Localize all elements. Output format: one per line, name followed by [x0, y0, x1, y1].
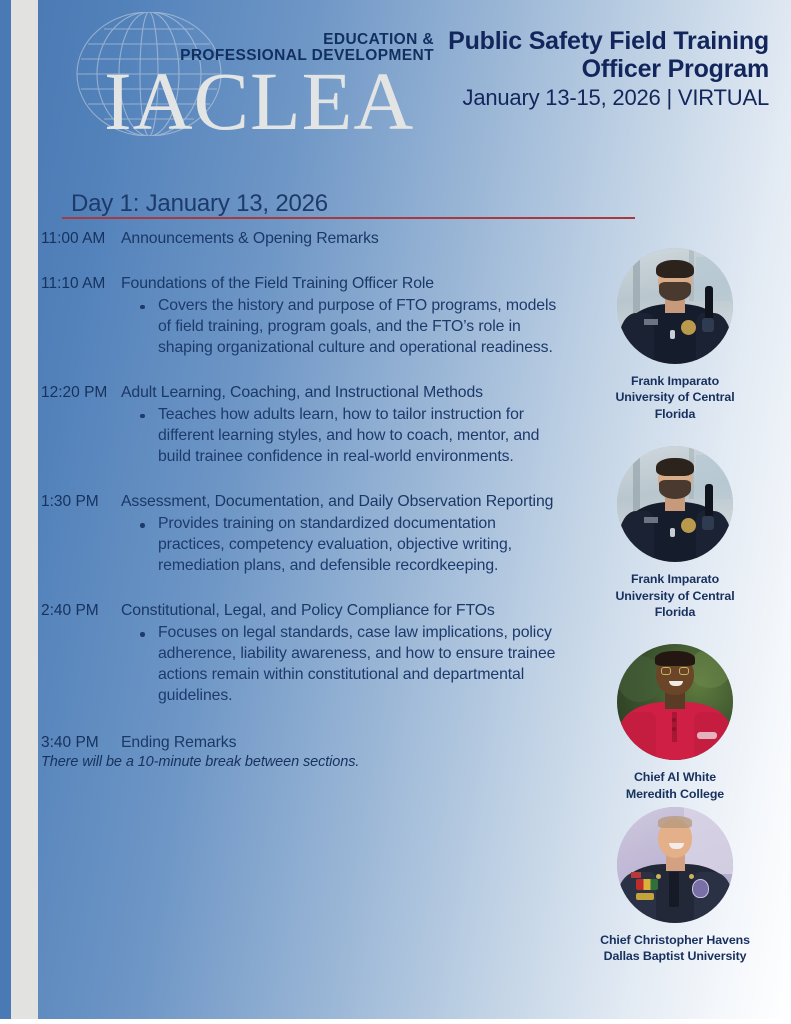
day-heading-rule — [62, 217, 635, 219]
photo-detail-glass — [696, 455, 731, 499]
left-gray-stripe — [11, 0, 38, 1019]
photo-detail-hair — [656, 458, 693, 477]
speaker-caption: Chief Al WhiteMeredith College — [600, 769, 750, 802]
photo-detail-pin — [670, 330, 675, 339]
schedule-slot-header: 3:40 PMEnding Remarks — [41, 733, 561, 754]
break-footnote: There will be a 10-minute break between … — [41, 754, 561, 770]
speaker-caption: Frank ImparatoUniversity of Central Flor… — [600, 373, 750, 422]
photo-detail-badge — [681, 518, 696, 533]
photo-detail-tag — [644, 517, 658, 523]
schedule-list: 11:00 AMAnnouncements & Opening Remarks1… — [41, 229, 561, 770]
agenda-flyer: EDUCATION & PROFESSIONAL DEVELOPMENT IAC… — [0, 0, 791, 1024]
speaker-photo — [617, 807, 733, 923]
header: EDUCATION & PROFESSIONAL DEVELOPMENT IAC… — [38, 0, 791, 145]
photo-detail-radio — [705, 286, 713, 321]
schedule-slot-header: 1:30 PMAssessment, Documentation, and Da… — [41, 492, 561, 513]
bullet-dot-icon — [140, 414, 145, 419]
photo-detail-tie — [669, 872, 679, 907]
event-title-block: Public Safety Field Training Officer Pro… — [429, 27, 769, 112]
photo-detail-leaf2 — [689, 649, 731, 688]
speaker-card: Chief Christopher HavensDallas Baptist U… — [600, 807, 750, 965]
schedule-slot-title: Foundations of the Field Training Office… — [121, 274, 561, 295]
photo-detail-glass — [696, 257, 731, 301]
schedule-slot-header: 2:40 PMConstitutional, Legal, and Policy… — [41, 601, 561, 622]
schedule-slot-title: Ending Remarks — [121, 733, 561, 754]
photo-detail-patch — [702, 516, 714, 530]
schedule-slot: 11:00 AMAnnouncements & Opening Remarks — [41, 229, 561, 250]
schedule-slot-time: 11:00 AM — [41, 229, 121, 249]
speaker-card: Frank ImparatoUniversity of Central Flor… — [600, 248, 750, 422]
speaker-photo — [617, 248, 733, 364]
photo-detail-ribbon2 — [636, 893, 654, 900]
left-blue-stripe — [0, 0, 11, 1019]
schedule-slot: 2:40 PMConstitutional, Legal, and Policy… — [41, 601, 561, 707]
photo-detail-pin — [670, 528, 675, 537]
speaker-name: Frank Imparato — [600, 571, 750, 587]
schedule-bullet: Provides training on standardized docume… — [140, 514, 561, 577]
photo-detail-tag — [644, 319, 658, 325]
bullet-dot-icon — [140, 523, 145, 528]
schedule-slot-time: 12:20 PM — [41, 383, 121, 403]
speaker-caption: Frank ImparatoUniversity of Central Flor… — [600, 571, 750, 620]
event-title-line2: Officer Program — [429, 55, 769, 83]
speaker-affiliation: University of Central Florida — [600, 389, 750, 422]
schedule-slot-bullets: Provides training on standardized docume… — [140, 514, 561, 577]
schedule-slot-title: Constitutional, Legal, and Policy Compli… — [121, 601, 561, 622]
photo-detail-shoulderl — [617, 712, 656, 761]
photo-detail-hair — [655, 651, 694, 666]
schedule-slot-header: 12:20 PMAdult Learning, Coaching, and In… — [41, 383, 561, 404]
photo-detail-star2 — [689, 874, 694, 879]
day-heading: Day 1: January 13, 2026 — [71, 190, 328, 218]
schedule-bullet: Covers the history and purpose of FTO pr… — [140, 296, 561, 359]
schedule-bullet: Focuses on legal standards, case law imp… — [140, 623, 561, 706]
iaclea-logo: EDUCATION & PROFESSIONAL DEVELOPMENT IAC… — [56, 6, 436, 136]
schedule-slot-title: Announcements & Opening Remarks — [121, 229, 561, 250]
speaker-name: Chief Al White — [600, 769, 750, 785]
photo-detail-btn2 — [672, 727, 676, 731]
speaker-name: Frank Imparato — [600, 373, 750, 389]
photo-detail-ribbon — [636, 879, 658, 890]
schedule-slot-bullets: Teaches how adults learn, how to tailor … — [140, 405, 561, 468]
speaker-card: Frank ImparatoUniversity of Central Flor… — [600, 446, 750, 620]
event-date-line: January 13-15, 2026 | VIRTUAL — [429, 84, 769, 112]
logo-wordmark: IACLEA — [104, 62, 414, 141]
photo-detail-pole1 — [633, 248, 640, 318]
photo-detail-glassesr — [679, 667, 689, 675]
schedule-slot-header: 11:10 AMFoundations of the Field Trainin… — [41, 274, 561, 295]
speaker-photo — [617, 446, 733, 562]
schedule-slot-bullets: Covers the history and purpose of FTO pr… — [140, 296, 561, 359]
speaker-caption: Chief Christopher HavensDallas Baptist U… — [600, 932, 750, 965]
speaker-name: Chief Christopher Havens — [600, 932, 750, 948]
event-title-line1: Public Safety Field Training — [429, 27, 769, 55]
schedule-bullet-text: Covers the history and purpose of FTO pr… — [158, 297, 556, 356]
schedule-slot-bullets: Focuses on legal standards, case law imp… — [140, 623, 561, 706]
bullet-dot-icon — [140, 632, 145, 637]
schedule-slot-time: 2:40 PM — [41, 601, 121, 621]
speaker-photo — [617, 644, 733, 760]
speaker-affiliation: Meredith College — [600, 786, 750, 802]
logo-tagline-line1: EDUCATION & — [180, 32, 434, 48]
schedule-bullet: Teaches how adults learn, how to tailor … — [140, 405, 561, 468]
schedule-slot-time: 11:10 AM — [41, 274, 121, 294]
photo-detail-glassesl — [661, 667, 671, 675]
schedule-bullet-text: Teaches how adults learn, how to tailor … — [158, 406, 539, 465]
speaker-affiliation: Dallas Baptist University — [600, 948, 750, 964]
schedule-slot: 1:30 PMAssessment, Documentation, and Da… — [41, 492, 561, 577]
speaker-affiliation: University of Central Florida — [600, 588, 750, 621]
schedule-slot-time: 3:40 PM — [41, 733, 121, 753]
schedule-bullet-text: Provides training on standardized docume… — [158, 515, 512, 574]
schedule-slot-title: Assessment, Documentation, and Daily Obs… — [121, 492, 561, 513]
photo-detail-pole1 — [633, 446, 640, 516]
speaker-card: Chief Al WhiteMeredith College — [600, 644, 750, 802]
photo-detail-logo — [697, 732, 717, 739]
schedule-bullet-text: Focuses on legal standards, case law imp… — [158, 624, 555, 704]
photo-detail-hair — [656, 260, 693, 279]
schedule-slot-title: Adult Learning, Coaching, and Instructio… — [121, 383, 561, 404]
schedule-slot: 11:10 AMFoundations of the Field Trainin… — [41, 274, 561, 359]
photo-detail-badge — [681, 320, 696, 335]
photo-detail-patch — [702, 318, 714, 332]
bottom-white-edge — [38, 1019, 791, 1024]
bullet-dot-icon — [140, 305, 145, 310]
schedule-slot-header: 11:00 AMAnnouncements & Opening Remarks — [41, 229, 561, 250]
schedule-slot-time: 1:30 PM — [41, 492, 121, 512]
schedule-slot: 12:20 PMAdult Learning, Coaching, and In… — [41, 383, 561, 468]
photo-detail-badge — [692, 879, 709, 898]
photo-detail-flag — [631, 872, 641, 878]
photo-detail-hair — [658, 816, 693, 828]
speaker-list: Frank ImparatoUniversity of Central Flor… — [600, 248, 750, 965]
schedule-slot: 3:40 PMEnding Remarks — [41, 733, 561, 754]
photo-detail-radio — [705, 484, 713, 519]
